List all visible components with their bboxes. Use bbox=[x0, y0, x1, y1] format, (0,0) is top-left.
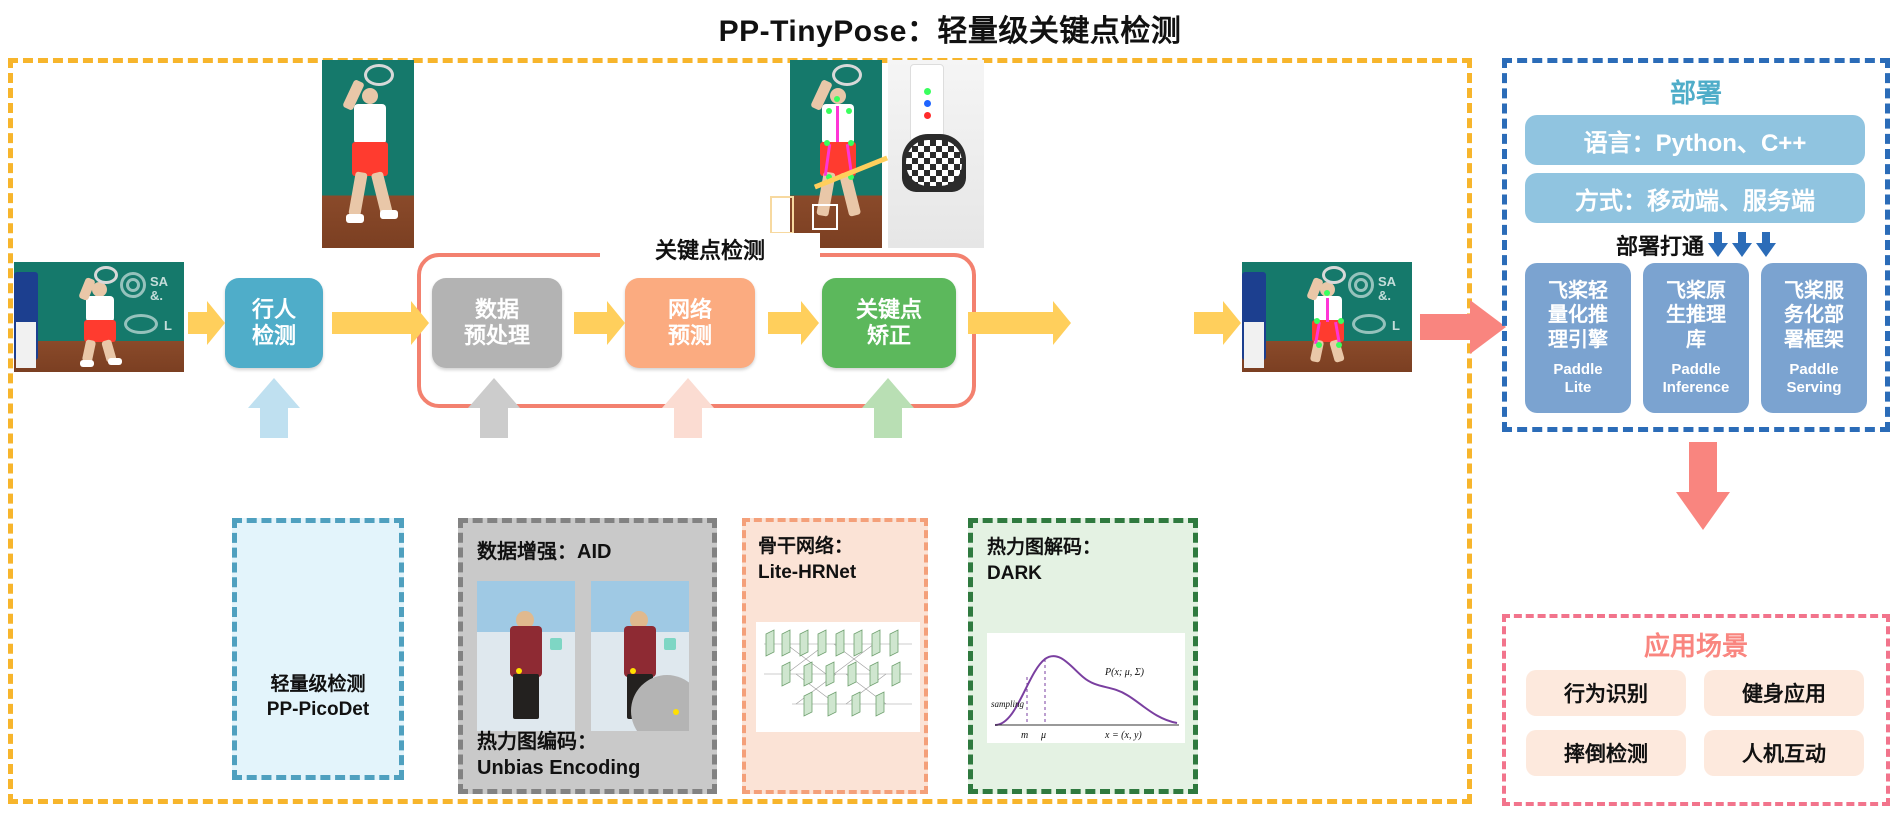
pipeline-box-keypoint-refine[interactable]: 关键点 矫正 bbox=[822, 278, 956, 368]
deployment-panel: 部署 语言：Python、C++ 方式：移动端、服务端 部署打通 飞桨轻 量化推… bbox=[1502, 58, 1890, 432]
pipeline-box-network-predict[interactable]: 网络 预测 bbox=[625, 278, 755, 368]
main-pipeline-panel bbox=[8, 58, 1472, 804]
flow-arrow-6 bbox=[1194, 312, 1224, 334]
app-card-action-recognition[interactable]: 行为识别 bbox=[1526, 670, 1686, 716]
up-arrow-aid bbox=[468, 378, 520, 438]
flow-arrow-3 bbox=[574, 312, 608, 334]
deploy-card-cn: 飞桨原 生推理 库 bbox=[1643, 279, 1749, 352]
picodet-label: 轻量级检测 PP-PicoDet bbox=[237, 672, 399, 723]
output-image: SA &. L bbox=[1242, 262, 1412, 372]
aid-image-before bbox=[477, 581, 575, 731]
deploy-connect-row: 部署打通 bbox=[1507, 229, 1885, 261]
annotation-aid: 数据增强：AID 热力图编码： Unbias Encoding bbox=[458, 518, 717, 794]
app-card-fall-detection[interactable]: 摔倒检测 bbox=[1526, 730, 1686, 776]
annotation-hrnet: 骨干网络： Lite-HRNet bbox=[742, 518, 928, 794]
deploy-card-en: Paddle Lite bbox=[1525, 361, 1631, 397]
cropped-person-image bbox=[322, 60, 414, 248]
app-card-fitness[interactable]: 健身应用 bbox=[1704, 670, 1864, 716]
crop-guide-box bbox=[770, 196, 794, 234]
down-arrow-icon bbox=[1756, 232, 1776, 258]
down-arrow-icon bbox=[1732, 232, 1752, 258]
deploy-card-paddle-lite[interactable]: 飞桨轻 量化推 理引擎 Paddle Lite bbox=[1525, 263, 1631, 413]
svg-text:P(x; μ, Σ): P(x; μ, Σ) bbox=[1104, 667, 1145, 678]
flow-arrow-4 bbox=[768, 312, 802, 334]
deploy-card-cn: 飞桨服 务化部 署框架 bbox=[1761, 279, 1867, 352]
down-arrow-icon bbox=[1708, 232, 1728, 258]
aid-footer: 热力图编码： Unbias Encoding bbox=[477, 729, 640, 781]
pipeline-box-person-detection[interactable]: 行人 检测 bbox=[225, 278, 323, 368]
keypoint-group-label: 关键点检测 bbox=[600, 233, 820, 265]
deploy-title: 部署 bbox=[1507, 73, 1885, 110]
deploy-card-en: Paddle Inference bbox=[1643, 361, 1749, 397]
deploy-card-cn: 飞桨轻 量化推 理引擎 bbox=[1525, 279, 1631, 352]
aid-header: 数据增强：AID bbox=[477, 535, 611, 564]
svg-text:μ: μ bbox=[1040, 730, 1046, 741]
application-scenarios-panel: 应用场景 行为识别 健身应用 摔倒检测 人机互动 bbox=[1502, 614, 1890, 806]
svg-text:sampling: sampling bbox=[991, 699, 1025, 709]
flow-arrow-1 bbox=[188, 312, 208, 334]
app-card-human-computer-interaction[interactable]: 人机互动 bbox=[1704, 730, 1864, 776]
page-title: PP-TinyPose：轻量级关键点检测 bbox=[0, 6, 1900, 50]
svg-text:x = (x, y): x = (x, y) bbox=[1104, 730, 1142, 741]
up-arrow-dark bbox=[862, 378, 914, 438]
apps-title: 应用场景 bbox=[1506, 626, 1886, 663]
deploy-pill-language[interactable]: 语言：Python、C++ bbox=[1525, 115, 1865, 165]
deploy-card-en: Paddle Serving bbox=[1761, 361, 1867, 397]
pipeline-box-data-preprocess[interactable]: 数据 预处理 bbox=[432, 278, 562, 368]
hrnet-architecture-figure bbox=[756, 622, 920, 732]
annotation-dark: 热力图解码： DARK sampling m μ P(x; μ, Σ) x = … bbox=[968, 518, 1198, 794]
annotation-picodet: 轻量级检测 PP-PicoDet bbox=[232, 518, 404, 780]
ankle-crop-box bbox=[812, 204, 838, 230]
deploy-transition-arrow bbox=[1420, 300, 1506, 354]
flow-arrow-2 bbox=[332, 312, 412, 334]
input-image: SA &. L bbox=[14, 262, 184, 372]
deploy-pill-mode[interactable]: 方式：移动端、服务端 bbox=[1525, 173, 1865, 223]
flow-arrow-5 bbox=[968, 312, 1054, 334]
svg-text:m: m bbox=[1021, 730, 1028, 741]
deploy-card-paddle-serving[interactable]: 飞桨服 务化部 署框架 Paddle Serving bbox=[1761, 263, 1867, 413]
ankle-detail-image bbox=[888, 60, 984, 248]
deploy-connect-label: 部署打通 bbox=[1616, 229, 1704, 261]
dark-header: 热力图解码： DARK bbox=[987, 535, 1101, 586]
apps-transition-arrow bbox=[1676, 442, 1730, 530]
deploy-card-paddle-inference[interactable]: 飞桨原 生推理 库 Paddle Inference bbox=[1643, 263, 1749, 413]
up-arrow-hrnet bbox=[662, 378, 714, 438]
hrnet-header: 骨干网络： Lite-HRNet bbox=[758, 534, 856, 585]
aid-image-after bbox=[591, 581, 689, 731]
keypoint-result-image bbox=[790, 60, 882, 248]
dark-gaussian-figure: sampling m μ P(x; μ, Σ) x = (x, y) bbox=[987, 633, 1185, 743]
up-arrow-picodet bbox=[248, 378, 300, 438]
